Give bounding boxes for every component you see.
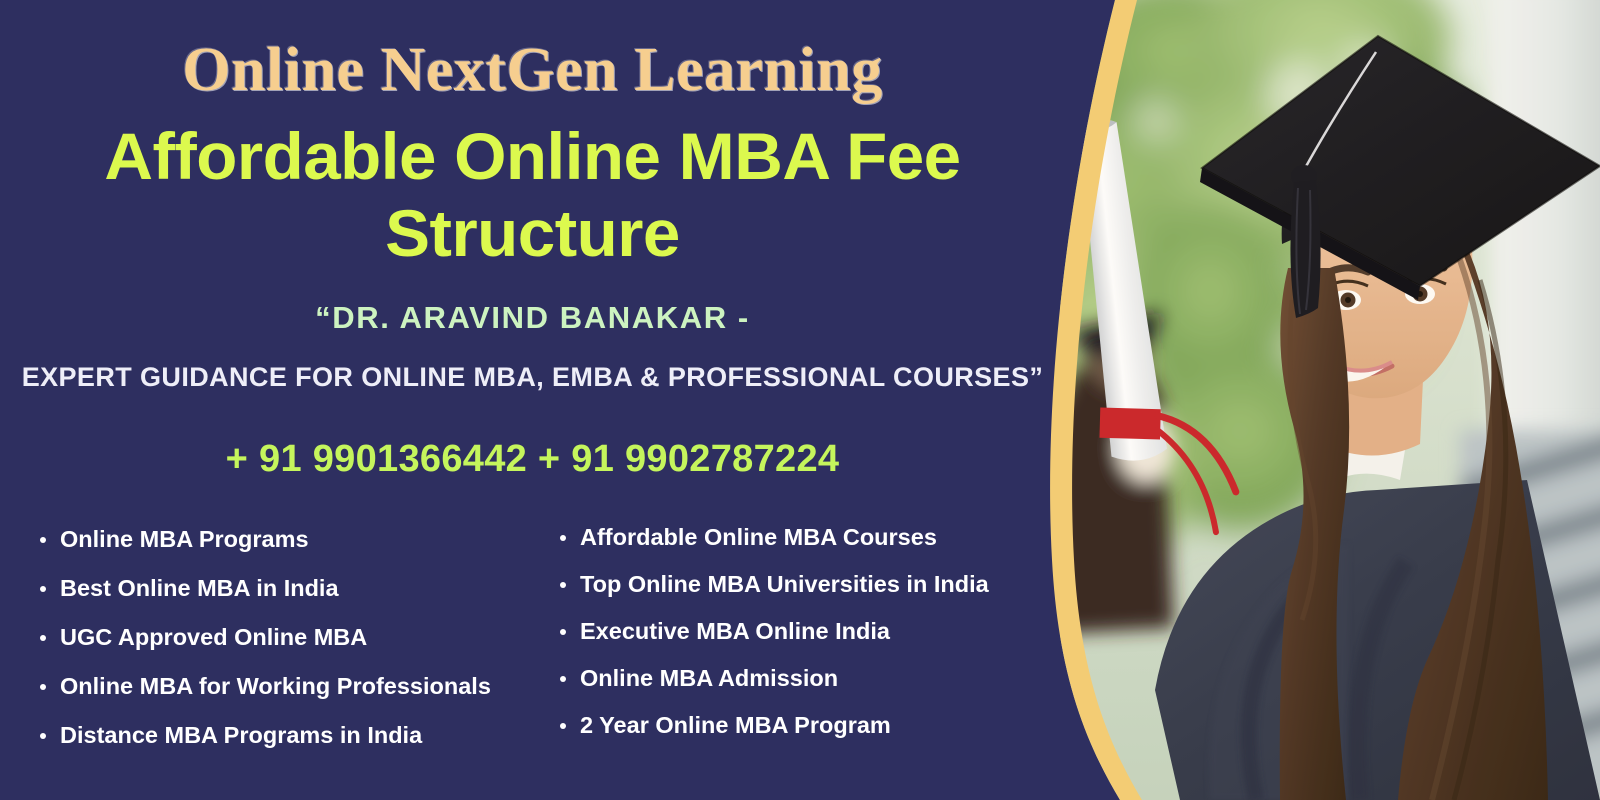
bullet-icon <box>40 586 46 592</box>
page-title: Affordable Online MBA Fee Structure <box>30 118 1035 271</box>
list-item-label: UGC Approved Online MBA <box>60 624 367 650</box>
keyword-list-left: Online MBA Programs Best Online MBA in I… <box>38 515 558 760</box>
list-item: 2 Year Online MBA Program <box>558 701 1028 750</box>
contact-phone-numbers[interactable]: + 91 9901366442 + 91 9902787224 <box>0 438 1065 481</box>
list-item: Best Online MBA in India <box>38 564 558 613</box>
bullet-icon <box>40 733 46 739</box>
bullet-icon <box>40 684 46 690</box>
list-item: Executive MBA Online India <box>558 607 1028 656</box>
bullet-icon <box>560 582 566 588</box>
list-item-label: Best Online MBA in India <box>60 575 339 601</box>
list-item: Top Online MBA Universities in India <box>558 560 1028 609</box>
brand-title: Online NextGen Learning <box>0 38 1065 103</box>
list-item: UGC Approved Online MBA <box>38 613 558 662</box>
list-item-label: Online MBA Admission <box>580 665 838 691</box>
bullet-icon <box>560 629 566 635</box>
list-item: Online MBA Admission <box>558 654 1028 703</box>
list-item-label: Online MBA Programs <box>60 526 309 552</box>
promo-banner: Online NextGen Learning Affordable Onlin… <box>0 0 1600 800</box>
list-item: Online MBA for Working Professionals <box>38 662 558 711</box>
list-item: Affordable Online MBA Courses <box>558 513 1028 562</box>
keyword-lists: Online MBA Programs Best Online MBA in I… <box>0 515 1065 760</box>
graduate-photo <box>1060 0 1600 800</box>
list-item: Online MBA Programs <box>38 515 558 564</box>
list-item-label: Affordable Online MBA Courses <box>580 524 937 550</box>
content-pane: Online NextGen Learning Affordable Onlin… <box>0 0 1065 800</box>
bullet-icon <box>40 635 46 641</box>
list-item-label: Distance MBA Programs in India <box>60 722 422 748</box>
bullet-icon <box>560 535 566 541</box>
keyword-list-right: Affordable Online MBA Courses Top Online… <box>558 515 1028 760</box>
bullet-icon <box>40 537 46 543</box>
list-item-label: Online MBA for Working Professionals <box>60 673 491 699</box>
list-item-label: 2 Year Online MBA Program <box>580 712 891 738</box>
quote-line-primary: “DR. ARAVIND BANAKAR - <box>0 300 1065 336</box>
list-item-label: Top Online MBA Universities in India <box>580 571 989 597</box>
list-item: Distance MBA Programs in India <box>38 711 558 760</box>
quote-line-secondary: EXPERT GUIDANCE FOR ONLINE MBA, EMBA & P… <box>0 362 1065 393</box>
list-item-label: Executive MBA Online India <box>580 618 890 644</box>
bullet-icon <box>560 723 566 729</box>
bullet-icon <box>560 676 566 682</box>
